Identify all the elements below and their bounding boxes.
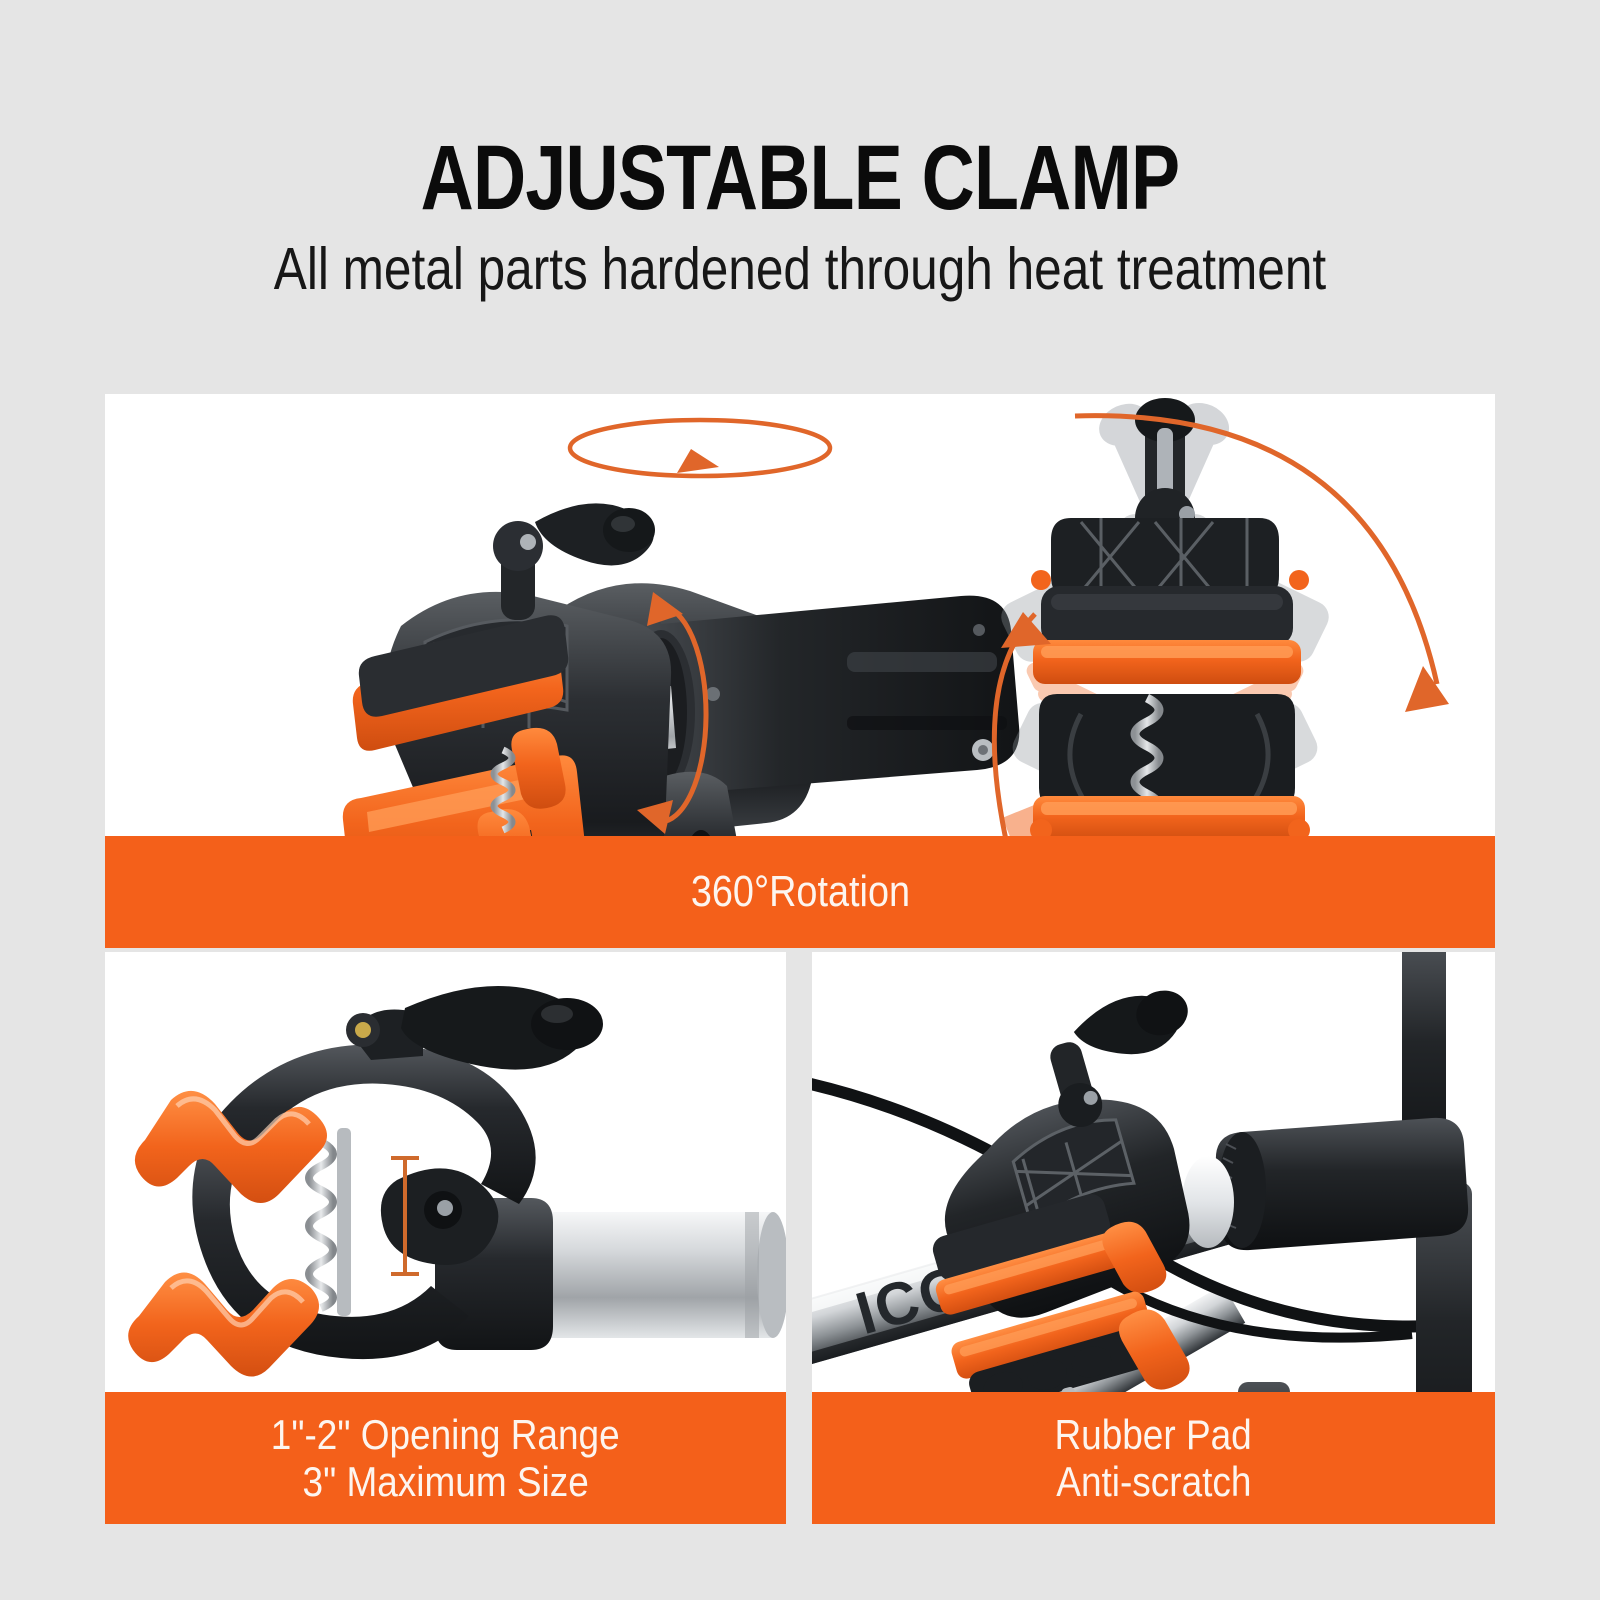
rotation-caption: 360°Rotation: [105, 836, 1495, 948]
caption-line: 1"-2" Opening Range: [271, 1411, 620, 1458]
caption-line: 3" Maximum Size: [302, 1458, 588, 1505]
opening-range-caption: 1"-2" Opening Range 3" Maximum Size: [105, 1392, 786, 1524]
caption-line: Anti-scratch: [1056, 1458, 1251, 1505]
page-title: ADJUSTABLE CLAMP: [160, 132, 1440, 224]
header: ADJUSTABLE CLAMP All metal parts hardene…: [0, 0, 1600, 392]
rubber-pad-caption: Rubber Pad Anti-scratch: [812, 1392, 1495, 1524]
page-subtitle: All metal parts hardened through heat tr…: [128, 240, 1472, 299]
opening-range-panel: OR 1"-2" 1"-2" Opening Range 3" Maximum …: [105, 952, 786, 1524]
caption-line: Rubber Pad: [1055, 1411, 1252, 1458]
caption-line: 360°Rotation: [690, 867, 909, 916]
rotation-panel: 360° 360°Rotation: [105, 394, 1495, 948]
rubber-pad-panel: ICOL 36 NE: [812, 952, 1495, 1524]
